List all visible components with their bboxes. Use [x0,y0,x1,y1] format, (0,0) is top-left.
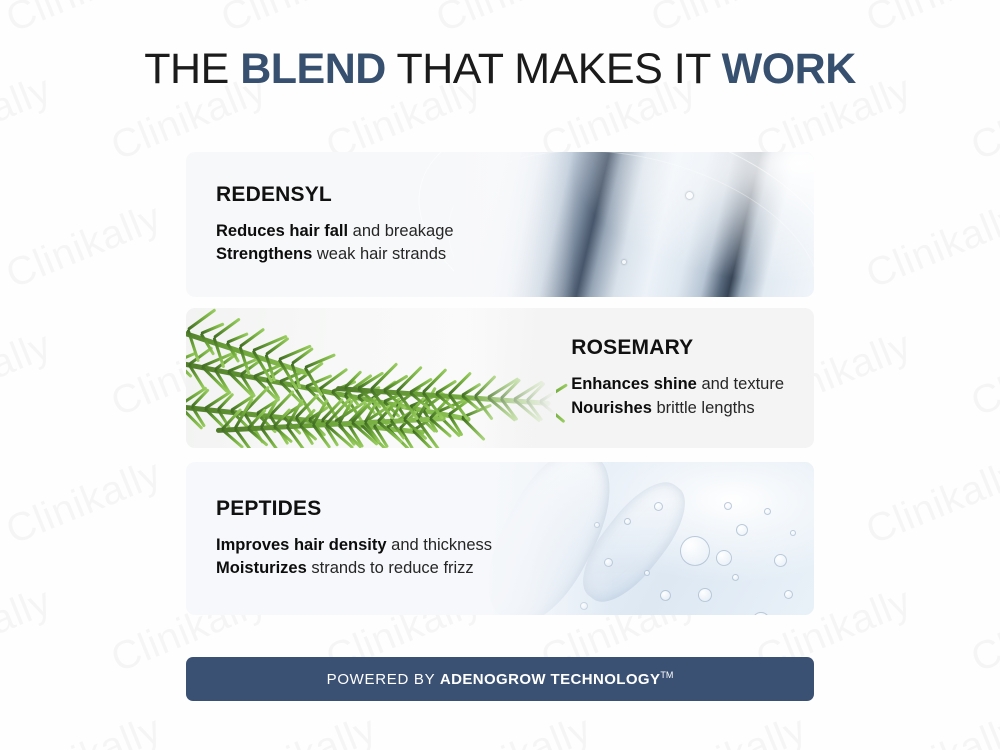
ingredient-card-peptides[interactable]: PEPTIDES Improves hair density and thick… [186,462,814,615]
gel-bubble [680,536,710,566]
watermark-text: Clinikally [0,579,58,682]
powered-by-text: POWERED BY ADENOGROW TECHNOLOGYTM [327,670,674,688]
promo-infographic: ClinikallyClinikallyClinikallyClinikally… [0,0,1000,750]
gel-bubble [774,554,787,567]
powered-by-banner[interactable]: POWERED BY ADENOGROW TECHNOLOGYTM [186,657,814,701]
watermark-text: Clinikally [860,0,1000,42]
ingredient-card-redensyl[interactable]: REDENSYL Reduces hair fall and breakage … [186,152,814,297]
water-serum-image [454,152,814,297]
peptides-text-block: PEPTIDES Improves hair density and thick… [216,496,492,581]
gel-bubble [764,508,771,515]
image-fade-left [484,462,614,615]
watermark-text: Clinikally [965,323,1000,426]
watermark-text: Clinikally [0,451,168,554]
gel-bubble [644,570,650,576]
footer-brand: ADENOGROW TECHNOLOGY [440,671,661,688]
watermark-text: Clinikally [0,323,58,426]
gel-bubble [790,530,796,536]
gel-bubble [724,502,732,510]
page-title-container: THE BLEND THAT MAKES IT WORK [0,48,1000,91]
rosemary-sprig-image [186,308,556,448]
card-line: Moisturizes strands to reduce frizz [216,557,492,581]
gel-bubble [784,590,793,599]
watermark-text: Clinikally [860,451,1000,554]
line-bold: Improves hair density [216,535,387,553]
watermark-text: Clinikally [0,0,168,42]
card-line: Strengthens weak hair strands [216,243,454,267]
title-accent-work: WORK [722,45,856,93]
card-line: Nourishes brittle lengths [571,397,784,421]
card-title-rosemary: ROSEMARY [571,336,784,360]
image-fade-right [466,308,556,448]
line-bold: Reduces hair fall [216,221,348,239]
watermark-text: Clinikally [965,579,1000,682]
watermark-text: Clinikally [215,0,383,42]
footer-prefix: POWERED BY [327,671,440,688]
card-title-peptides: PEPTIDES [216,496,492,520]
watermark-text: Clinikally [430,707,598,750]
gel-bubble [716,550,732,566]
line-bold: Moisturizes [216,559,307,577]
ingredient-card-rosemary[interactable]: ROSEMARY Enhances shine and texture Nour… [186,308,814,448]
water-droplet-1 [686,192,693,199]
gel-bubble [698,588,712,602]
water-droplet-2 [622,260,626,264]
line-rest: and texture [697,375,784,393]
rosemary-text-block: ROSEMARY Enhances shine and texture Nour… [571,336,784,421]
gel-bubble [624,518,631,525]
gel-bubble [654,502,663,511]
watermark-text: Clinikally [430,0,598,42]
line-bold: Enhances shine [571,375,697,393]
gel-bubble [660,590,671,601]
line-rest: strands to reduce frizz [307,559,474,577]
redensyl-text-block: REDENSYL Reduces hair fall and breakage … [216,182,454,267]
card-line: Improves hair density and thickness [216,533,492,557]
image-fade-left [454,152,574,297]
title-part-2: THAT MAKES IT [386,45,722,93]
title-accent-blend: BLEND [240,45,386,93]
line-rest: and thickness [387,535,492,553]
line-rest: brittle lengths [652,399,755,417]
gel-bubble [752,612,770,615]
line-rest: weak hair strands [312,245,446,263]
card-title-redensyl: REDENSYL [216,182,454,206]
gel-bubble [732,574,739,581]
watermark-text: Clinikally [860,195,1000,298]
watermark-text: Clinikally [645,0,813,42]
gel-bubble [736,524,748,536]
page-title: THE BLEND THAT MAKES IT WORK [0,48,1000,91]
watermark-text: Clinikally [0,707,168,750]
title-part-1: THE [144,45,240,93]
trademark-symbol: TM [660,670,673,680]
gel-bubbles-image [484,462,814,615]
watermark-text: Clinikally [860,707,1000,750]
line-bold: Strengthens [216,245,312,263]
card-line: Reduces hair fall and breakage [216,219,454,243]
line-bold: Nourishes [571,399,652,417]
card-line: Enhances shine and texture [571,373,784,397]
watermark-text: Clinikally [215,707,383,750]
line-rest: and breakage [348,221,454,239]
watermark-text: Clinikally [645,707,813,750]
watermark-text: Clinikally [0,195,168,298]
